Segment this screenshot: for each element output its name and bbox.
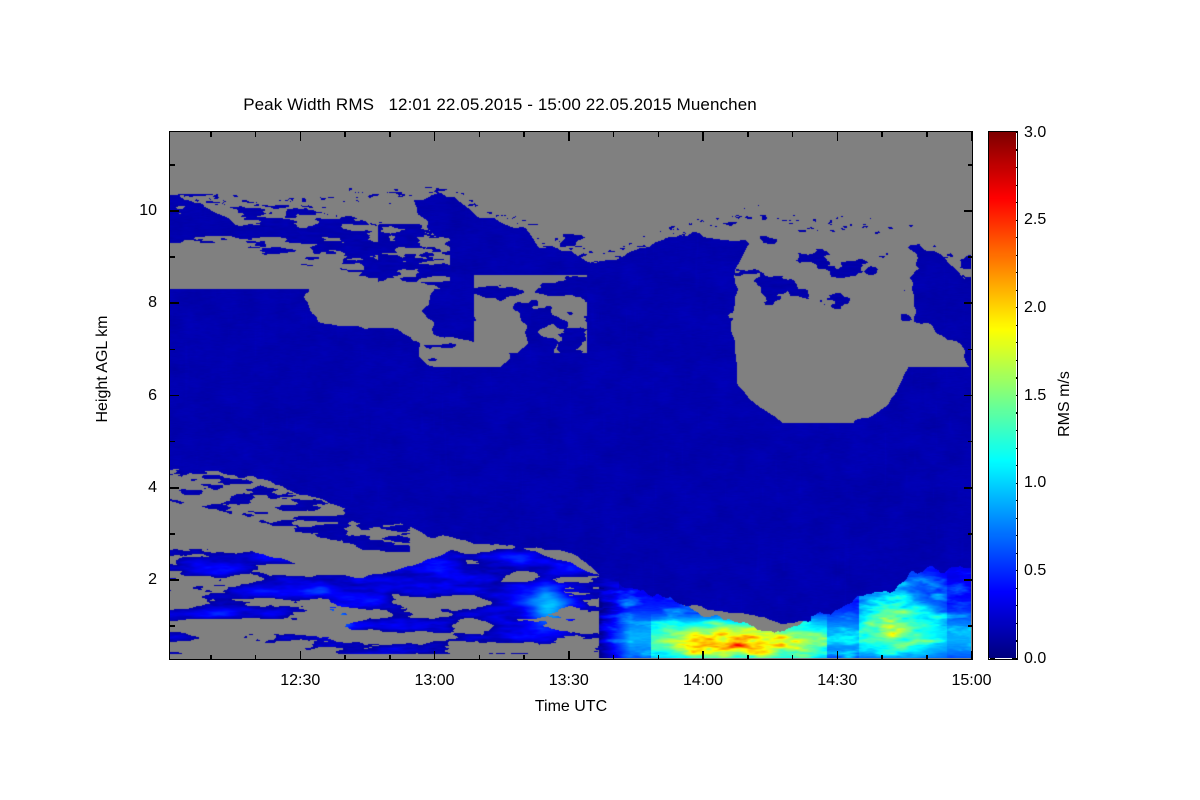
x-axis-tick-minor [747, 655, 749, 660]
x-axis-tick-minor-top [792, 132, 794, 137]
y-axis-tick-label: 8 [109, 294, 157, 312]
y-axis-label: Height AGL km [94, 254, 112, 484]
x-axis-tick-minor [523, 655, 525, 660]
x-axis-tick-minor-top [658, 132, 660, 137]
y-axis-tick-major [170, 487, 179, 489]
x-axis-tick-minor-top [479, 132, 481, 137]
x-axis-tick-major [971, 651, 973, 660]
x-axis-tick-major-top [837, 132, 839, 141]
colorbar-tick-label: 0.5 [1024, 562, 1046, 580]
x-axis-tick-major-top [300, 132, 302, 141]
y-axis-tick-label: 2 [109, 571, 157, 589]
x-axis-tick-minor-top [926, 132, 928, 137]
heatmap-canvas [170, 132, 971, 658]
x-axis-tick-minor [255, 655, 257, 660]
x-axis-tick-major [568, 651, 570, 660]
y-axis-tick-major-right [964, 487, 973, 489]
y-axis-tick-minor-right [968, 533, 973, 535]
x-axis-tick-major [837, 651, 839, 660]
x-axis-tick-major-top [971, 132, 973, 141]
colorbar-tick-label: 1.5 [1024, 387, 1046, 405]
y-axis-tick-major-right [964, 579, 973, 581]
colorbar-tick-label: 0.0 [1024, 650, 1046, 668]
x-axis-tick-minor [881, 655, 883, 660]
x-axis-tick-minor [658, 655, 660, 660]
y-axis-tick-minor [170, 441, 175, 443]
x-axis-tick-major [434, 651, 436, 660]
x-axis-tick-major [702, 651, 704, 660]
colorbar-gradient [989, 132, 1016, 658]
x-axis-label: Time UTC [169, 698, 973, 716]
x-axis-tick-minor-top [389, 132, 391, 137]
y-axis-tick-minor-right [968, 349, 973, 351]
x-axis-tick-label: 14:00 [683, 672, 723, 690]
colorbar-tick-label: 2.0 [1024, 299, 1046, 317]
y-axis-tick-minor-right [968, 164, 973, 166]
x-axis-tick-minor-top [881, 132, 883, 137]
y-axis-tick-major-right [964, 302, 973, 304]
x-axis-tick-minor [792, 655, 794, 660]
colorbar-tick-label: 1.0 [1024, 474, 1046, 492]
colorbar [988, 131, 1018, 660]
x-axis-tick-major [300, 651, 302, 660]
x-axis-tick-minor [389, 655, 391, 660]
chart-figure: Peak Width RMS 12:01 22.05.2015 - 15:00 … [0, 0, 1200, 800]
x-axis-tick-label: 13:00 [414, 672, 454, 690]
y-axis-tick-major [170, 395, 179, 397]
x-axis-tick-label: 13:30 [549, 672, 589, 690]
y-axis-tick-label: 10 [109, 202, 157, 220]
y-axis-tick-label: 4 [109, 479, 157, 497]
y-axis-tick-minor [170, 256, 175, 258]
y-axis-tick-minor [170, 349, 175, 351]
y-axis-tick-major-right [964, 395, 973, 397]
x-axis-tick-label: 15:00 [951, 672, 991, 690]
y-axis-tick-major-right [964, 210, 973, 212]
y-axis-tick-minor-right [968, 441, 973, 443]
x-axis-tick-minor-top [613, 132, 615, 137]
x-axis-tick-minor-top [747, 132, 749, 137]
x-axis-tick-minor [344, 655, 346, 660]
x-axis-tick-minor-top [523, 132, 525, 137]
y-axis-tick-minor [170, 533, 175, 535]
x-axis-tick-label: 14:30 [817, 672, 857, 690]
x-axis-tick-minor-top [344, 132, 346, 137]
x-axis-tick-minor [210, 655, 212, 660]
y-axis-tick-major [170, 302, 179, 304]
x-axis-tick-minor [926, 655, 928, 660]
x-axis-tick-minor-top [255, 132, 257, 137]
heatmap-plot-area [169, 131, 973, 660]
y-axis-tick-minor-right [968, 256, 973, 258]
x-axis-tick-label: 12:30 [280, 672, 320, 690]
x-axis-tick-minor [613, 655, 615, 660]
chart-title: Peak Width RMS 12:01 22.05.2015 - 15:00 … [0, 95, 1000, 115]
y-axis-tick-major [170, 210, 179, 212]
y-axis-tick-label: 6 [109, 387, 157, 405]
y-axis-tick-major [170, 579, 179, 581]
x-axis-tick-major-top [702, 132, 704, 141]
y-axis-tick-minor [170, 625, 175, 627]
x-axis-tick-minor [479, 655, 481, 660]
colorbar-tick-label: 3.0 [1024, 124, 1046, 142]
colorbar-tick-label: 2.5 [1024, 211, 1046, 229]
y-axis-tick-minor [170, 164, 175, 166]
colorbar-label: RMS m/s [1056, 324, 1074, 484]
x-axis-tick-minor-top [210, 132, 212, 137]
x-axis-tick-major-top [434, 132, 436, 141]
y-axis-tick-minor-right [968, 625, 973, 627]
x-axis-tick-major-top [568, 132, 570, 141]
